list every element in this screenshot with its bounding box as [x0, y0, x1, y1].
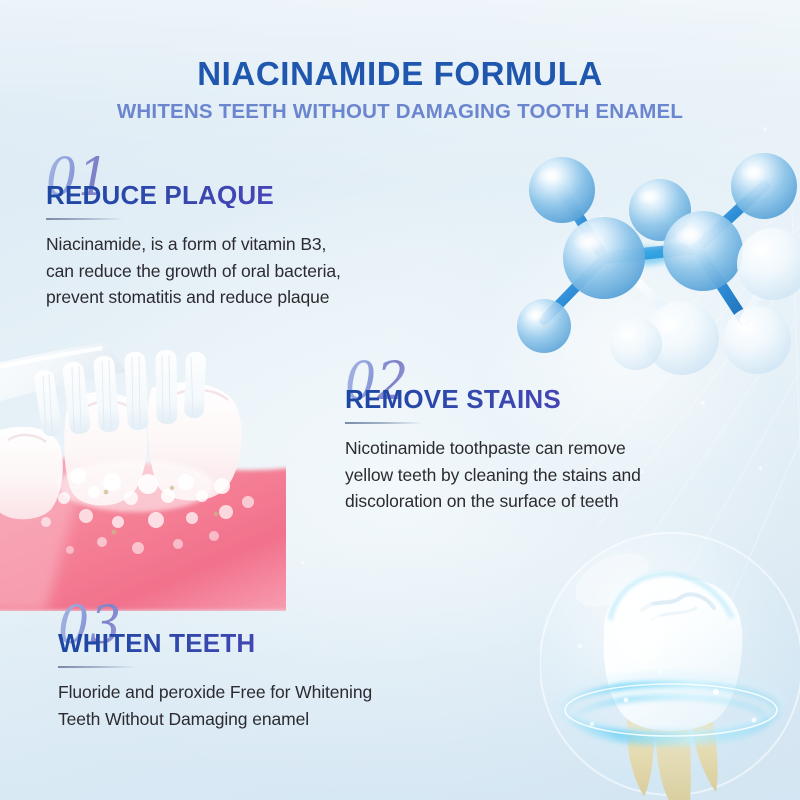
feature-divider [345, 422, 423, 424]
feature-divider [58, 666, 136, 668]
protected-tooth-illustration [540, 524, 800, 800]
feature-body: Niacinamide, is a form of vitamin B3, ca… [46, 231, 476, 311]
page-subtitle: WHITENS TEETH WITHOUT DAMAGING TOOTH ENA… [0, 101, 800, 124]
feature-heading: WHITEN TEETH [58, 630, 498, 656]
feature-divider [46, 218, 124, 220]
poster-header: NIACINAMIDE FORMULA WHITENS TEETH WITHOU… [0, 56, 800, 124]
feature-heading: REDUCE PLAQUE [46, 182, 476, 208]
feature-block-whiten-teeth: 03 WHITEN TEETH Fluoride and peroxide Fr… [58, 600, 498, 732]
feature-body: Nicotinamide toothpaste can remove yello… [345, 435, 775, 515]
page-title: NIACINAMIDE FORMULA [0, 56, 800, 92]
feature-block-reduce-plaque: 01 REDUCE PLAQUE Niacinamide, is a form … [46, 152, 476, 311]
infographic-poster: NIACINAMIDE FORMULA WHITENS TEETH WITHOU… [0, 0, 800, 800]
feature-block-remove-stains: 02 REMOVE STAINS Nicotinamide toothpaste… [345, 356, 775, 515]
toothbrush-teeth-illustration [0, 336, 286, 611]
feature-heading: REMOVE STAINS [345, 386, 775, 412]
molecule-illustration [492, 148, 800, 383]
feature-body: Fluoride and peroxide Free for Whitening… [58, 679, 498, 732]
